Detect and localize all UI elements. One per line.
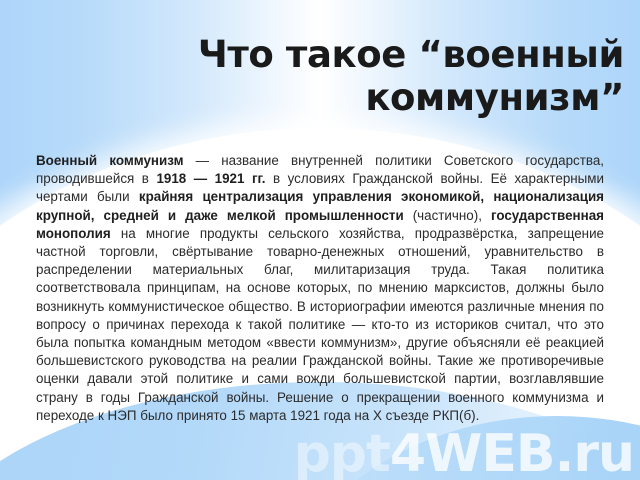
slide-title: Что такое “военный коммунизм” bbox=[40, 33, 624, 120]
slide-body-text: Военный коммунизм — название внутренней … bbox=[36, 152, 604, 425]
watermark-prefix: ppt bbox=[294, 424, 390, 480]
presentation-slide: ppt4WEB.ru Что такое “военный коммунизм”… bbox=[0, 0, 640, 480]
watermark-suffix: 4WEB.ru bbox=[390, 424, 634, 480]
site-watermark: ppt4WEB.ru bbox=[294, 424, 634, 480]
body-text-emphasis: 1918 — 1921 гг. bbox=[156, 171, 265, 186]
body-text-emphasis: Военный коммунизм bbox=[36, 153, 183, 168]
body-text-run: (частично), bbox=[404, 208, 491, 223]
body-text-run: на многие продукты сельского хозяйства, … bbox=[36, 226, 604, 423]
